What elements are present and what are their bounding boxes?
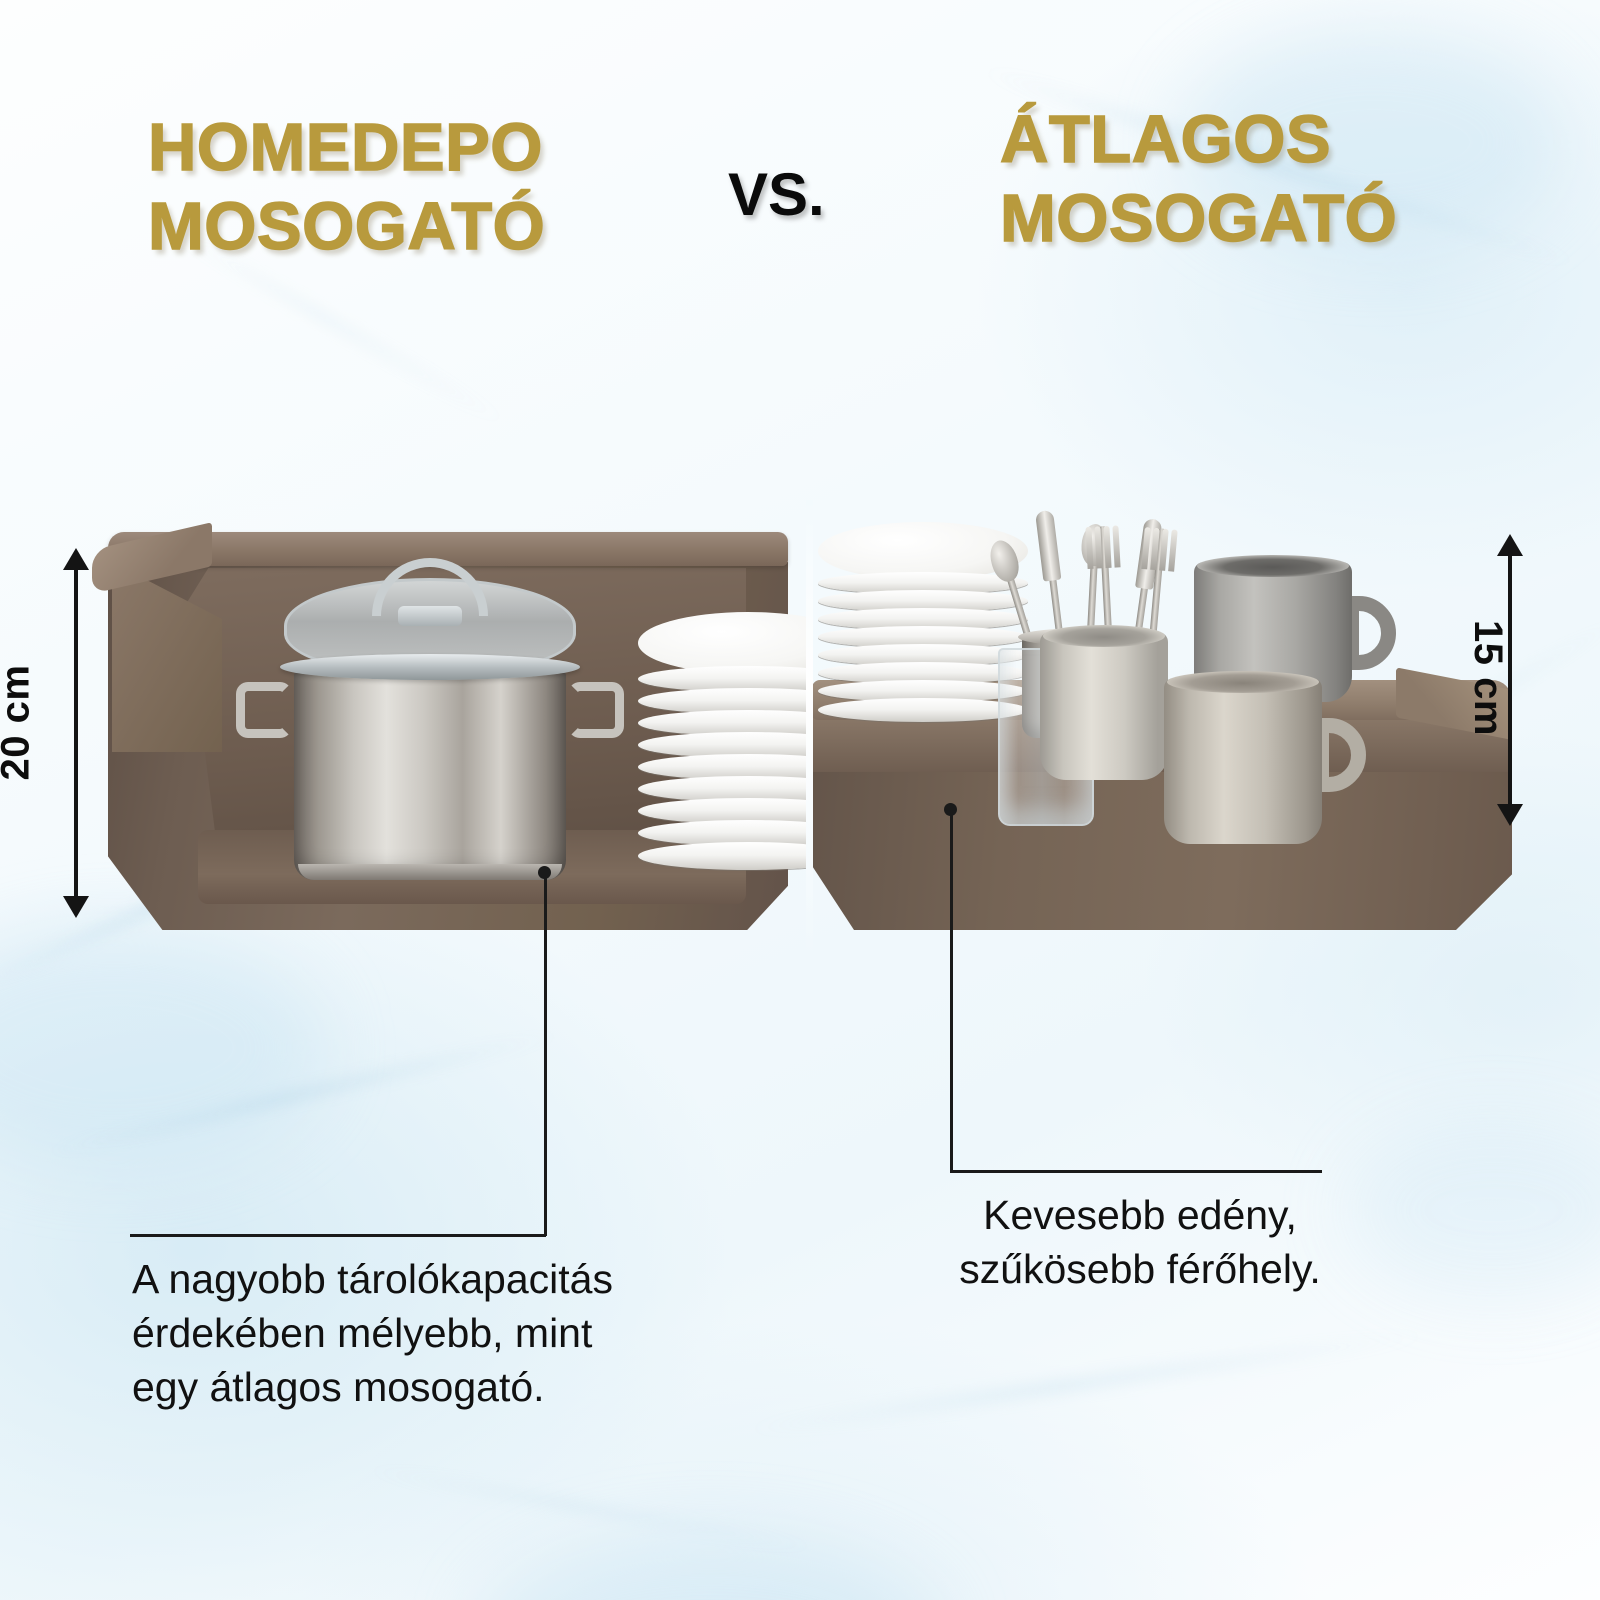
left-product-title: HOMEDEPO MOSOGATÓ: [148, 108, 545, 266]
left-height-arrow: [62, 548, 90, 918]
mug-mouth: [1043, 625, 1166, 647]
left-height-label: 20 cm: [0, 665, 38, 781]
arrow-head-down-icon: [1497, 804, 1523, 826]
left-callout-horizontal-line: [130, 1234, 546, 1237]
light-mug: [1040, 632, 1168, 780]
pot-body: [294, 670, 566, 880]
arrow-head-down-icon: [63, 896, 89, 918]
left-product-photo: [90, 500, 810, 960]
mug-body: [1040, 632, 1168, 780]
pot-handle-left: [236, 682, 292, 738]
left-feature-caption: A nagyobb tárolókapacitás érdekében mély…: [132, 1252, 692, 1414]
taupe-mug: [1164, 678, 1322, 844]
right-callout-horizontal-line: [950, 1170, 1322, 1173]
right-product-title: ÁTLAGOS MOSOGATÓ: [1000, 100, 1397, 258]
lid-handle-arc: [372, 558, 488, 616]
stainless-stock-pot: [280, 550, 580, 880]
pot-handle-right: [568, 682, 624, 738]
versus-label: VS.: [728, 160, 825, 229]
right-height-label: 15 cm: [1465, 620, 1510, 736]
pot-foot: [298, 864, 562, 880]
right-product-photo: [812, 500, 1512, 960]
left-callout-vertical-line: [544, 876, 547, 1236]
arrow-shaft: [74, 560, 78, 906]
center-divider: [806, 500, 813, 960]
lid-rim: [280, 654, 580, 680]
white-plate-stack: [638, 612, 810, 872]
right-feature-caption: Kevesebb edény, szűkösebb férőhely.: [900, 1188, 1380, 1296]
mug-body: [1164, 678, 1322, 844]
product-comparison-infographic: HOMEDEPO MOSOGATÓ VS. ÁTLAGOS MOSOGATÓ: [0, 0, 1600, 1600]
mug-mouth: [1197, 555, 1349, 577]
right-callout-vertical-line: [950, 812, 953, 1172]
mug-mouth: [1167, 671, 1319, 693]
